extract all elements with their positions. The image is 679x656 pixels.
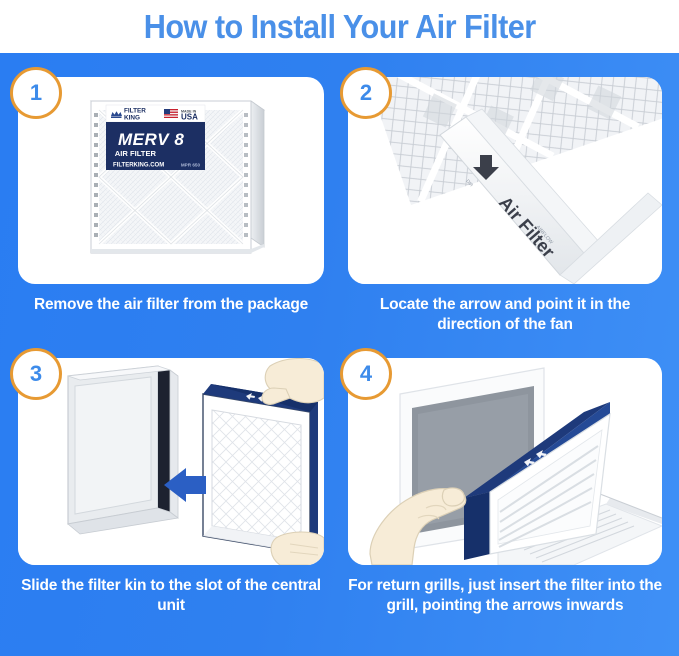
step-1-caption: Remove the air filter from the package: [18, 295, 324, 315]
step-4-card: [348, 358, 662, 565]
usa-flag-icon: [164, 109, 178, 118]
hand-top: [262, 359, 324, 405]
step-2-badge: 2: [340, 67, 392, 119]
step-4-caption: For return grills, just insert the filte…: [348, 576, 662, 616]
svg-text:MPR 650: MPR 650: [181, 163, 201, 168]
infographic-root: How to Install Your Air Filter: [0, 0, 679, 656]
step-3: 3 Slide the filter kin to the slot of th…: [18, 358, 324, 630]
step-1: FILTER KING MADE IN USA: [18, 77, 324, 337]
step-1-card: FILTER KING MADE IN USA: [18, 77, 324, 284]
step-2-card: Air Filter AIRFLOW DIR: [348, 77, 662, 284]
step-3-badge: 3: [10, 348, 62, 400]
central-unit-slot: [68, 366, 178, 534]
step-2: Air Filter AIRFLOW DIR 2 Locate the arro…: [348, 77, 662, 337]
step-4-artwork: [348, 358, 662, 565]
svg-text:AIR FILTER: AIR FILTER: [115, 149, 157, 158]
step-3-card: [18, 358, 324, 565]
step-1-artwork: FILTER KING MADE IN USA: [18, 77, 324, 284]
svg-text:USA: USA: [181, 113, 198, 122]
svg-text:MERV 8: MERV 8: [118, 130, 184, 149]
step-3-artwork: [18, 358, 324, 565]
step-1-badge: 1: [10, 67, 62, 119]
step-2-artwork: Air Filter AIRFLOW DIR: [348, 77, 662, 284]
filter-king-logo-icon: [111, 111, 122, 118]
blue-canvas: FILTER KING MADE IN USA: [0, 53, 679, 656]
filter-panel: [203, 384, 318, 554]
hand-bottom: [271, 532, 324, 565]
svg-text:KING: KING: [124, 114, 140, 121]
step-4-badge: 4: [340, 348, 392, 400]
step-2-caption: Locate the arrow and point it in the dir…: [348, 295, 662, 335]
step-3-caption: Slide the filter kin to the slot of the …: [18, 576, 324, 616]
steps-grid: FILTER KING MADE IN USA: [0, 53, 679, 656]
svg-text:FILTERKING.COM: FILTERKING.COM: [113, 163, 164, 169]
page-title: How to Install Your Air Filter: [144, 8, 536, 46]
step-4: 4 For return grills, just insert the fil…: [348, 358, 662, 630]
header-band: How to Install Your Air Filter: [0, 0, 679, 53]
